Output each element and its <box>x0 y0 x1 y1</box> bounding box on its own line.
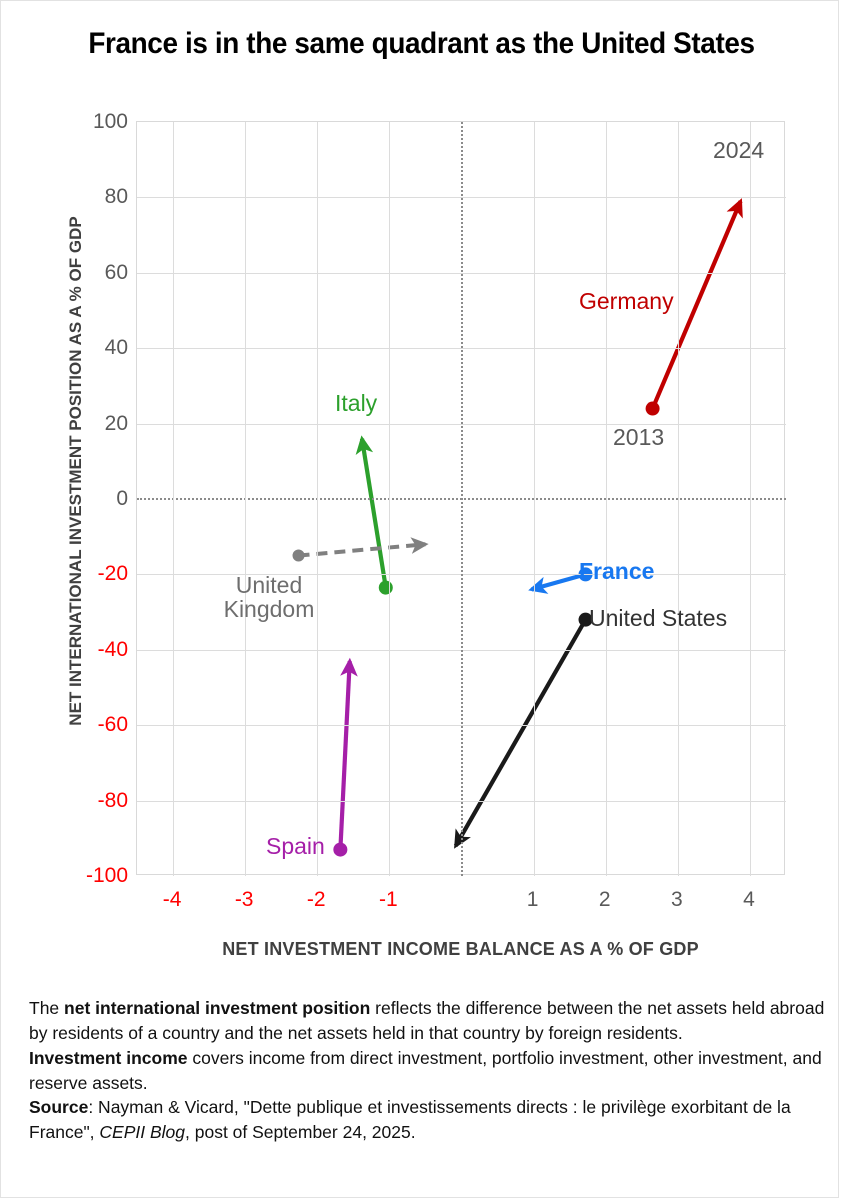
arrow-united-states <box>456 620 586 846</box>
arrow-spain <box>340 661 349 850</box>
x-tick-label: 4 <box>719 889 779 910</box>
x-tick-label: -1 <box>358 889 418 910</box>
footnote-2-bold: Investment income <box>29 1048 188 1068</box>
x-tick-label: -3 <box>214 889 274 910</box>
series-label-united-kingdom: United Kingdom <box>199 573 339 621</box>
x-tick-label: -2 <box>286 889 346 910</box>
footnote-source: Source: Nayman & Vicard, "Dette publique… <box>29 1095 829 1145</box>
series-label-germany: Germany <box>579 289 719 313</box>
vertical-gridline <box>750 122 751 876</box>
plot-area <box>136 121 785 875</box>
vertical-gridline <box>606 122 607 876</box>
footnote: The net international investment positio… <box>29 996 829 1145</box>
vertical-gridline <box>678 122 679 876</box>
vertical-gridline <box>534 122 535 876</box>
data-point-italy <box>379 581 393 595</box>
arrow-france <box>531 574 585 589</box>
series-label-france: France <box>579 559 689 583</box>
chart-card: France is in the same quadrant as the Un… <box>0 0 839 1198</box>
x-tick-label: 1 <box>503 889 563 910</box>
data-point-germany <box>646 402 660 416</box>
y-axis-title: NET INTERNATIONAL INVESTMENT POSITION AS… <box>66 121 86 821</box>
x-axis-tick-labels: -4-3-2-11234 <box>136 889 785 919</box>
arrow-italy <box>362 439 386 588</box>
source-bold: Source <box>29 1097 88 1117</box>
source-tail: , post of September 24, 2025. <box>185 1122 416 1142</box>
series-label-spain: Spain <box>266 834 346 858</box>
vertical-gridline <box>245 122 246 876</box>
vertical-gridline <box>317 122 318 876</box>
source-italic: CEPII Blog <box>99 1122 185 1142</box>
y-tick-label: -100 <box>58 865 128 886</box>
x-tick-label: -4 <box>142 889 202 910</box>
year-annotation-2024: 2024 <box>713 137 764 164</box>
footnote-1-bold: net international investment position <box>64 998 370 1018</box>
x-axis-title: NET INVESTMENT INCOME BALANCE AS A % OF … <box>136 939 785 960</box>
vertical-gridline <box>389 122 390 876</box>
x-tick-label: 2 <box>575 889 635 910</box>
x-tick-label: 3 <box>647 889 707 910</box>
series-label-united-states: United States <box>589 606 779 630</box>
footnote-line-1: The net international investment positio… <box>29 996 829 1046</box>
footnote-line-2: Investment income covers income from dir… <box>29 1046 829 1096</box>
year-annotation-2013: 2013 <box>613 424 664 451</box>
data-point-united-kingdom <box>293 550 305 562</box>
series-label-italy: Italy <box>335 391 425 415</box>
zero-vertical-line <box>461 122 463 876</box>
vertical-gridline <box>173 122 174 876</box>
footnote-1-pre: The <box>29 998 64 1018</box>
